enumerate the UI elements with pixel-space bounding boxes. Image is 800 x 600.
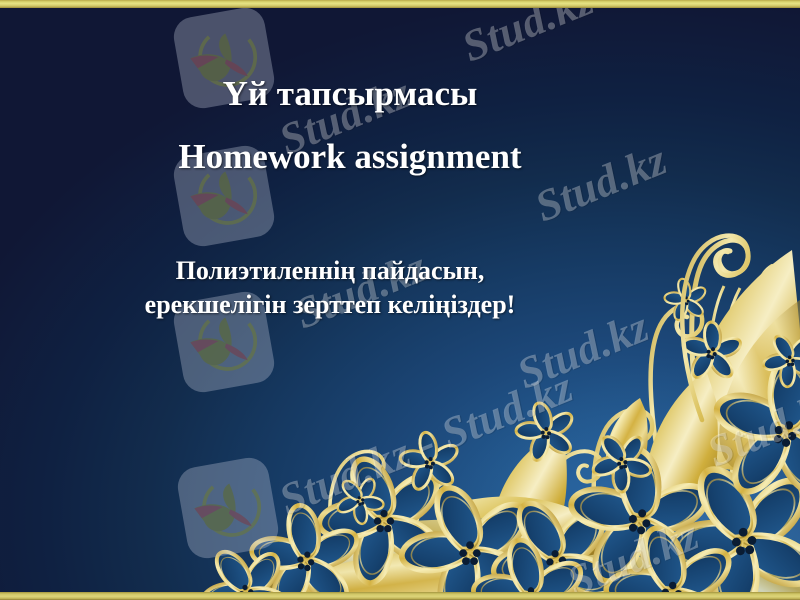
slide-background-glow-secondary bbox=[0, 0, 800, 600]
bottom-gold-bar bbox=[0, 592, 800, 600]
presentation-slide: Stud.kzStud.kzStud.kzStud.kzStud.kzStud.… bbox=[0, 0, 800, 600]
top-gold-bar bbox=[0, 0, 800, 8]
